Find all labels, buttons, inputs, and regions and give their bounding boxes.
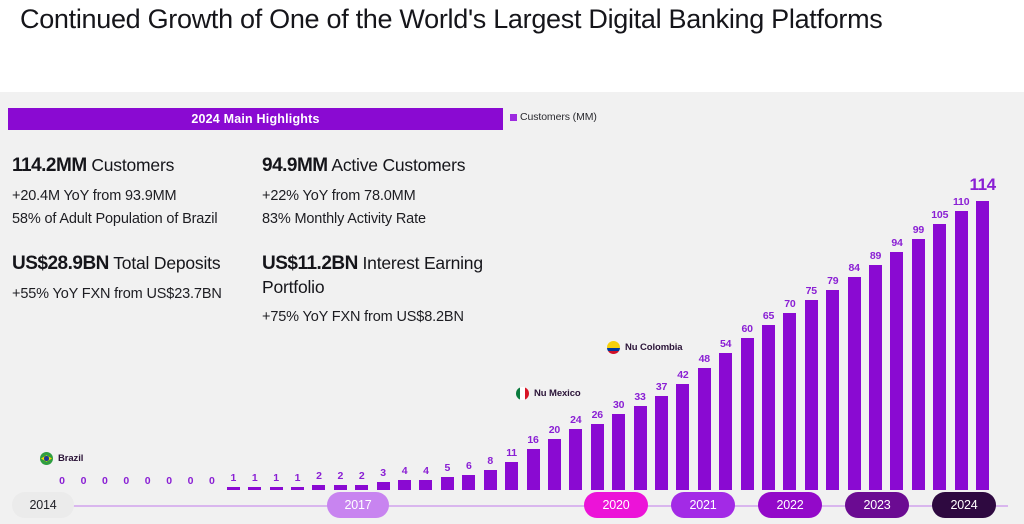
bar-slot[interactable]: 3 [372,128,394,490]
bar-slot[interactable]: 0 [115,128,137,490]
bar-slot[interactable]: 54 [715,128,737,490]
bar[interactable] [634,406,647,490]
bar-value-label: 114 [961,175,1005,195]
bar-slot[interactable]: 30 [608,128,630,490]
timeline-year-pill[interactable]: 2023 [845,492,909,518]
bar[interactable] [890,252,903,490]
bar[interactable] [826,290,839,490]
bar[interactable] [912,239,925,490]
mexico-flag-icon [516,387,529,400]
brazil-flag-icon [40,452,53,465]
bar-slot[interactable]: 89 [865,128,887,490]
bar-slot[interactable]: 0 [179,128,201,490]
bar[interactable] [548,439,561,490]
bar[interactable] [719,353,732,490]
chart-legend: Customers (MM) [510,111,597,123]
bar-slot[interactable]: 99 [907,128,929,490]
bar-slot[interactable]: 0 [137,128,159,490]
bar[interactable] [377,482,390,490]
timeline-axis: 2014201720202021202220232024 [0,490,1024,522]
bar-slot[interactable]: 0 [51,128,73,490]
slide-root: Continued Growth of One of the World's L… [0,0,1024,524]
bar-slot[interactable]: 105 [929,128,951,490]
bar-slot[interactable]: 75 [800,128,822,490]
bar[interactable] [762,325,775,490]
bar[interactable] [869,265,882,490]
bar-slot[interactable]: 6 [458,128,480,490]
bar-slot[interactable]: 94 [886,128,908,490]
bar-slot[interactable]: 26 [586,128,608,490]
country-marker: Nu Mexico [516,387,581,400]
bar[interactable] [505,462,518,490]
timeline-year-pill[interactable]: 2014 [12,492,74,518]
bar-slot[interactable]: 1 [222,128,244,490]
bar-slot[interactable]: 0 [201,128,223,490]
bar[interactable] [612,414,625,490]
bar-slot[interactable]: 60 [736,128,758,490]
timeline-year-pill[interactable]: 2024 [932,492,996,518]
page-title: Continued Growth of One of the World's L… [20,2,960,38]
bar[interactable] [848,277,861,490]
bar-slot[interactable]: 70 [779,128,801,490]
bar[interactable] [591,424,604,490]
bar[interactable] [441,477,454,490]
bar-slot[interactable]: 20 [543,128,565,490]
country-marker: Brazil [40,452,83,465]
bar[interactable] [419,480,432,490]
bar[interactable] [933,224,946,490]
bar-slot[interactable]: 0 [72,128,94,490]
bar[interactable] [805,300,818,490]
bar-slot[interactable]: 2 [308,128,330,490]
country-marker-label: Brazil [58,453,83,464]
highlights-banner: 2024 Main Highlights [8,108,503,130]
bar-series: 0000000011112223445681116202426303337424… [0,128,1024,490]
bar-slot[interactable]: 24 [565,128,587,490]
timeline-year-pill[interactable]: 2017 [327,492,389,518]
colombia-flag-icon [607,341,620,354]
bar-slot[interactable]: 1 [244,128,266,490]
bar-slot[interactable]: 114 [972,128,994,490]
square-swatch-icon [510,114,517,121]
bar-slot[interactable]: 37 [650,128,672,490]
timeline-year-pill[interactable]: 2020 [584,492,648,518]
highlights-banner-label: 2024 Main Highlights [191,112,319,126]
bar-slot[interactable]: 4 [415,128,437,490]
bar-slot[interactable]: 2 [329,128,351,490]
bar[interactable] [398,480,411,490]
country-marker-label: Nu Colombia [625,342,682,353]
legend-label: Customers (MM) [520,111,597,123]
bar-slot[interactable]: 33 [629,128,651,490]
bar-slot[interactable]: 1 [287,128,309,490]
bar[interactable] [783,313,796,490]
country-marker: Nu Colombia [607,341,682,354]
bar-slot[interactable]: 79 [822,128,844,490]
bar-slot[interactable]: 48 [693,128,715,490]
bar[interactable] [676,384,689,490]
bar-slot[interactable]: 0 [94,128,116,490]
bar-slot[interactable]: 5 [436,128,458,490]
bar[interactable] [462,475,475,490]
bar[interactable] [484,470,497,490]
bar[interactable] [955,211,968,490]
timeline-year-pill[interactable]: 2022 [758,492,822,518]
chart-panel: 2024 Main Highlights Customers (MM) 114.… [0,92,1024,524]
bar-slot[interactable]: 8 [479,128,501,490]
bar[interactable] [655,396,668,490]
bar[interactable] [976,201,989,490]
bar[interactable] [569,429,582,490]
bar-slot[interactable]: 1 [265,128,287,490]
timeline-year-pill[interactable]: 2021 [671,492,735,518]
country-marker-label: Nu Mexico [534,388,581,399]
bar[interactable] [741,338,754,490]
bar[interactable] [527,449,540,490]
bar-slot[interactable]: 4 [394,128,416,490]
bar-slot[interactable]: 84 [843,128,865,490]
bar-slot[interactable]: 0 [158,128,180,490]
bar-slot[interactable]: 2 [351,128,373,490]
bar-slot[interactable]: 42 [672,128,694,490]
bar[interactable] [698,368,711,490]
